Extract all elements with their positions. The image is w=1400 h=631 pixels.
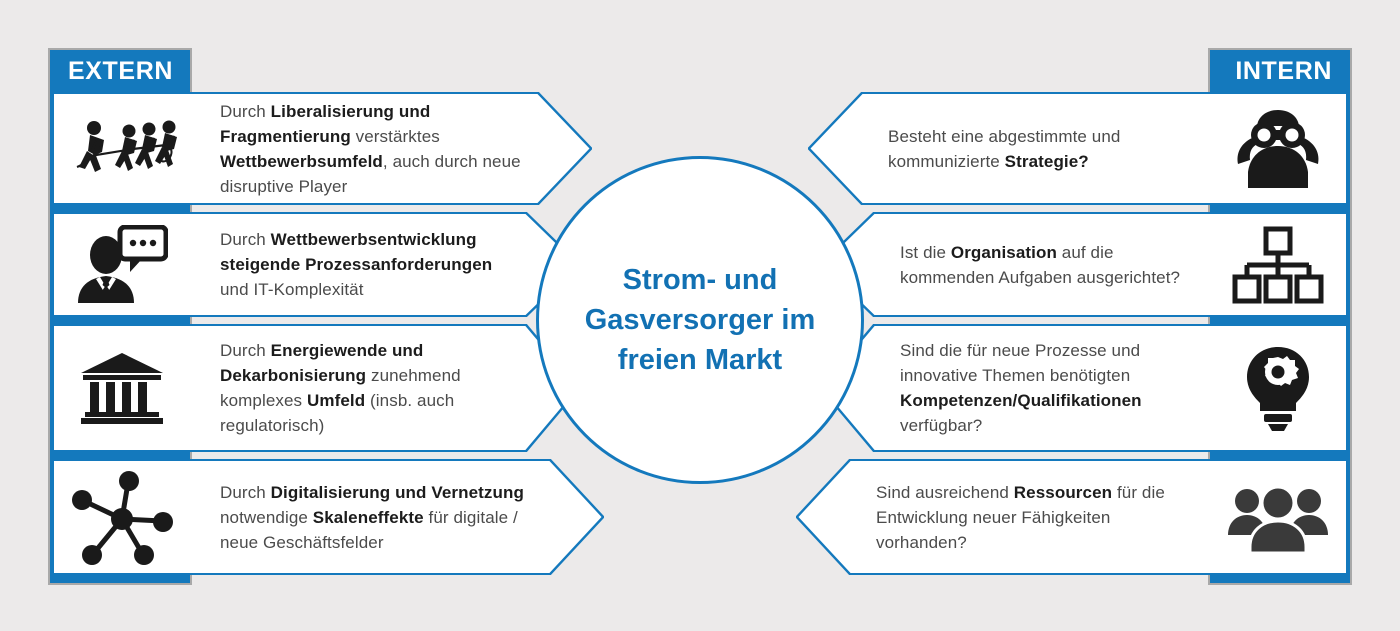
panel-content: Sind die für neue Prozesse und innovativ…: [820, 324, 1348, 452]
text-run: Durch: [220, 341, 271, 360]
panel-text: Sind die für neue Prozesse und innovativ…: [820, 338, 1208, 438]
external-panel-4[interactable]: Durch Digitalisierung und Vernetzung not…: [52, 459, 604, 575]
text-emphasis: Umfeld: [307, 391, 365, 410]
center-title: Strom- und Gasversorger im freien Markt: [575, 260, 825, 380]
infographic-root: EXTERN INTERN: [0, 0, 1400, 631]
text-run: notwendige: [220, 508, 313, 527]
text-emphasis: Skaleneffekte: [313, 508, 424, 527]
text-run: Sind die für neue Prozesse und innovativ…: [900, 341, 1140, 385]
text-run: Sind ausreichend: [876, 483, 1014, 502]
text-run: verfügbar?: [900, 416, 982, 435]
government-building-icon: [52, 351, 192, 425]
text-emphasis: Ressourcen: [1014, 483, 1112, 502]
panel-text: Ist die Organisation auf die kommenden A…: [820, 240, 1208, 290]
text-run: Ist die: [900, 243, 951, 262]
panel-text: Durch Liberalisierung und Fragmentierung…: [192, 99, 592, 199]
center-title-line2: Gasversorger im: [575, 300, 825, 340]
center-circle: Strom- und Gasversorger im freien Markt: [536, 156, 864, 484]
binoculars-person-icon: [1208, 108, 1348, 190]
text-run: Durch: [220, 483, 271, 502]
org-chart-icon: [1208, 225, 1348, 305]
tug-of-war-icon: [52, 111, 192, 187]
businessman-speech-bubble-icon: [52, 225, 192, 305]
lightbulb-gear-icon: [1208, 345, 1348, 431]
internal-panel-1[interactable]: Besteht eine abgestimmte und kommunizier…: [808, 92, 1348, 205]
panel-content: Durch Wettbewerbsentwicklung steigende P…: [52, 212, 580, 317]
panel-text: Durch Wettbewerbsentwicklung steigende P…: [192, 227, 580, 302]
text-run: Durch: [220, 102, 271, 121]
panel-text: Sind ausreichend Ressourcen für die Entw…: [796, 480, 1208, 555]
panel-content: Durch Liberalisierung und Fragmentierung…: [52, 92, 592, 205]
panel-content: Sind ausreichend Ressourcen für die Entw…: [796, 459, 1348, 575]
text-emphasis: Digitalisierung und Vernetzung: [271, 483, 524, 502]
extern-label: EXTERN: [50, 50, 190, 92]
text-run: und IT-Komplexität: [220, 280, 364, 299]
internal-panel-2[interactable]: Ist die Organisation auf die kommenden A…: [820, 212, 1348, 317]
internal-panel-4[interactable]: Sind ausreichend Ressourcen für die Entw…: [796, 459, 1348, 575]
panel-text: Besteht eine abgestimmte und kommunizier…: [808, 124, 1208, 174]
external-panel-1[interactable]: Durch Liberalisierung und Fragmentierung…: [52, 92, 592, 205]
external-panel-2[interactable]: Durch Wettbewerbsentwicklung steigende P…: [52, 212, 580, 317]
text-emphasis: Organisation: [951, 243, 1057, 262]
external-panel-3[interactable]: Durch Energiewende und Dekarbonisierung …: [52, 324, 580, 452]
center-title-line3: freien Markt: [575, 340, 825, 380]
panel-text: Durch Energiewende und Dekarbonisierung …: [192, 338, 580, 438]
intern-label: INTERN: [1210, 50, 1350, 92]
network-nodes-icon: [52, 467, 192, 567]
people-group-icon: [1208, 481, 1348, 553]
panel-content: Besteht eine abgestimmte und kommunizier…: [808, 92, 1348, 205]
text-run: Durch: [220, 230, 271, 249]
internal-panel-3[interactable]: Sind die für neue Prozesse und innovativ…: [820, 324, 1348, 452]
text-emphasis: Strategie?: [1005, 152, 1089, 171]
panel-content: Durch Digitalisierung und Vernetzung not…: [52, 459, 604, 575]
text-emphasis: Kompetenzen/Qualifikationen: [900, 391, 1142, 410]
panel-content: Durch Energiewende und Dekarbonisierung …: [52, 324, 580, 452]
text-emphasis: Wettbewerbsumfeld: [220, 152, 383, 171]
panel-text: Durch Digitalisierung und Vernetzung not…: [192, 480, 604, 555]
panel-content: Ist die Organisation auf die kommenden A…: [820, 212, 1348, 317]
center-title-line1: Strom- und: [575, 260, 825, 300]
text-run: verstärktes: [351, 127, 440, 146]
